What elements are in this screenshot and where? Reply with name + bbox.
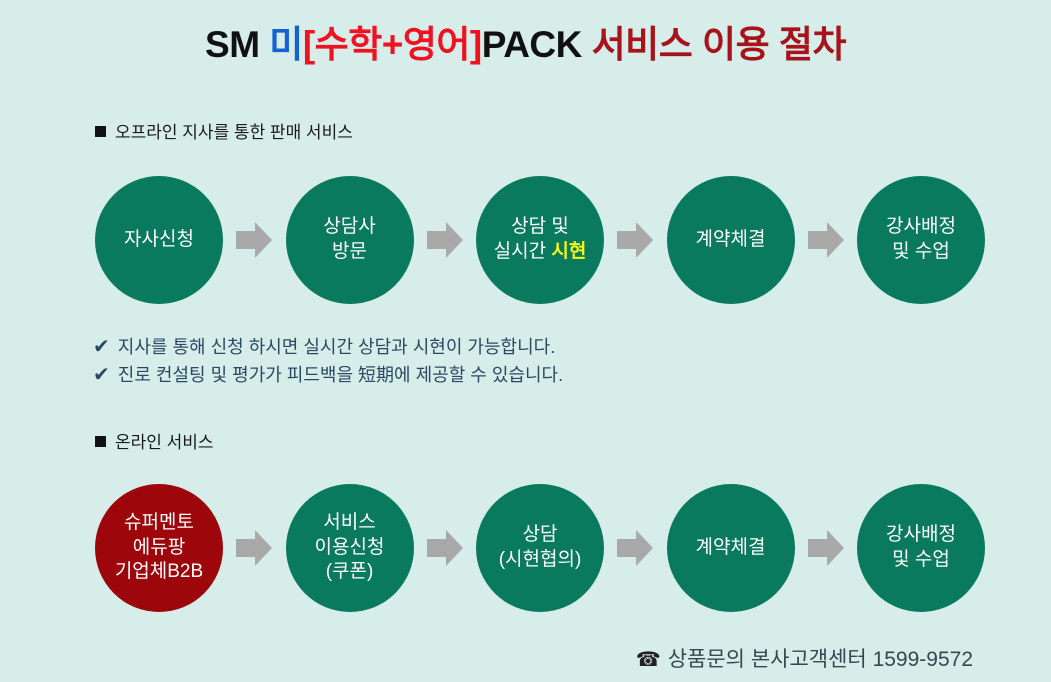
title-part-mi: 미 — [269, 24, 303, 65]
page-title: SM 미[수학+영어]PACK 서비스 이용 절차 — [0, 14, 1051, 68]
flow-arrow-icon — [617, 528, 653, 568]
flow-node-label: 강사배정 — [886, 523, 956, 548]
flow-node-label: 상담 — [523, 523, 558, 548]
footer-contact: ☎상품문의 본사고객센터 1599-9572 — [636, 643, 973, 673]
flow-arrow-icon — [427, 220, 463, 260]
list-item-label: 진로 컨설팅 및 평가가 피드백을 短期에 제공할 수 있습니다. — [118, 362, 563, 390]
section-heading-offline-label: 오프라인 지사를 통한 판매 서비스 — [115, 123, 353, 142]
flow-node-label-highlight: 시현 — [551, 241, 586, 262]
flow-node-online-1[interactable]: 슈퍼멘토 에듀팡 기업체B2B — [95, 484, 223, 612]
flow-arrow-icon — [236, 528, 272, 568]
square-bullet-icon — [95, 126, 106, 137]
flow-node-label-highlight: (쿠폰) — [326, 560, 374, 585]
bullet-list: ✔ 지사를 통해 신청 하시면 실시간 상담과 시현이 가능합니다. ✔ 진로 … — [93, 334, 563, 390]
phone-icon: ☎ — [636, 649, 661, 671]
flow-node-label: 및 수업 — [892, 240, 950, 265]
flow-node-label: 기업체B2B — [115, 560, 203, 585]
flow-node-offline-4[interactable]: 계약체결 — [667, 176, 795, 304]
flow-node-label: (시현협의) — [499, 548, 582, 573]
flow-arrow-icon — [427, 528, 463, 568]
list-item-label: 지사를 통해 신청 하시면 실시간 상담과 시현이 가능합니다. — [118, 334, 555, 362]
flow-node-offline-2[interactable]: 상담사 방문 — [286, 176, 414, 304]
check-icon: ✔ — [93, 337, 110, 357]
flow-arrow-icon — [808, 528, 844, 568]
flow-node-label: 방문 — [332, 240, 367, 265]
square-bullet-icon — [95, 436, 106, 447]
flow-arrow-icon — [617, 220, 653, 260]
flow-node-offline-3[interactable]: 상담 및 실시간 시현 — [476, 176, 604, 304]
flow-node-label: 에듀팡 — [133, 536, 185, 561]
list-item: ✔ 지사를 통해 신청 하시면 실시간 상담과 시현이 가능합니다. — [93, 334, 563, 362]
section-heading-online-label: 온라인 서비스 — [115, 433, 214, 452]
footer-contact-label: 상품문의 본사고객센터 1599-9572 — [668, 648, 973, 671]
flow-node-online-3[interactable]: 상담 (시현협의) — [476, 484, 604, 612]
flow-node-online-4[interactable]: 계약체결 — [667, 484, 795, 612]
flow-diagram-offline: 자사신청 상담사 방문 상담 및 실시간 시현 계약체결 강사배정 및 수업 — [95, 165, 985, 315]
title-part-sm: SM — [205, 24, 269, 65]
flow-node-offline-5[interactable]: 강사배정 및 수업 — [857, 176, 985, 304]
section-heading-online: 온라인 서비스 — [95, 428, 214, 453]
list-item: ✔ 진로 컨설팅 및 평가가 피드백을 短期에 제공할 수 있습니다. — [93, 362, 563, 390]
flow-node-label: 계약체결 — [696, 536, 766, 561]
check-icon: ✔ — [93, 365, 110, 385]
flow-node-online-5[interactable]: 강사배정 및 수업 — [857, 484, 985, 612]
flow-node-label: 강사배정 — [886, 215, 956, 240]
title-part-service: 서비스 이용 절차 — [592, 24, 846, 65]
flow-node-label: 계약체결 — [696, 228, 766, 253]
flow-diagram-online: 슈퍼멘토 에듀팡 기업체B2B 서비스 이용신청 (쿠폰) 상담 (시현협의) … — [95, 473, 985, 623]
title-part-bracket: [수학+영어] — [303, 24, 482, 65]
section-heading-offline: 오프라인 지사를 통한 판매 서비스 — [95, 118, 353, 143]
flow-node-label: 상담 및 — [511, 215, 569, 240]
flow-node-label: 이용신청 — [315, 536, 385, 561]
flow-node-label: 슈퍼멘토 — [124, 511, 194, 536]
title-part-pack: PACK — [482, 24, 592, 65]
flow-node-label: 자사신청 — [124, 228, 194, 253]
flow-arrow-icon — [808, 220, 844, 260]
flow-node-label-row: 실시간 시현 — [494, 240, 587, 265]
flow-node-online-2[interactable]: 서비스 이용신청 (쿠폰) — [286, 484, 414, 612]
flow-node-label: 실시간 — [494, 241, 552, 262]
flow-node-offline-1[interactable]: 자사신청 — [95, 176, 223, 304]
flow-node-label: 및 수업 — [892, 548, 950, 573]
flow-arrow-icon — [236, 220, 272, 260]
flow-node-label: 서비스 — [323, 511, 375, 536]
flow-node-label: 상담사 — [323, 215, 375, 240]
